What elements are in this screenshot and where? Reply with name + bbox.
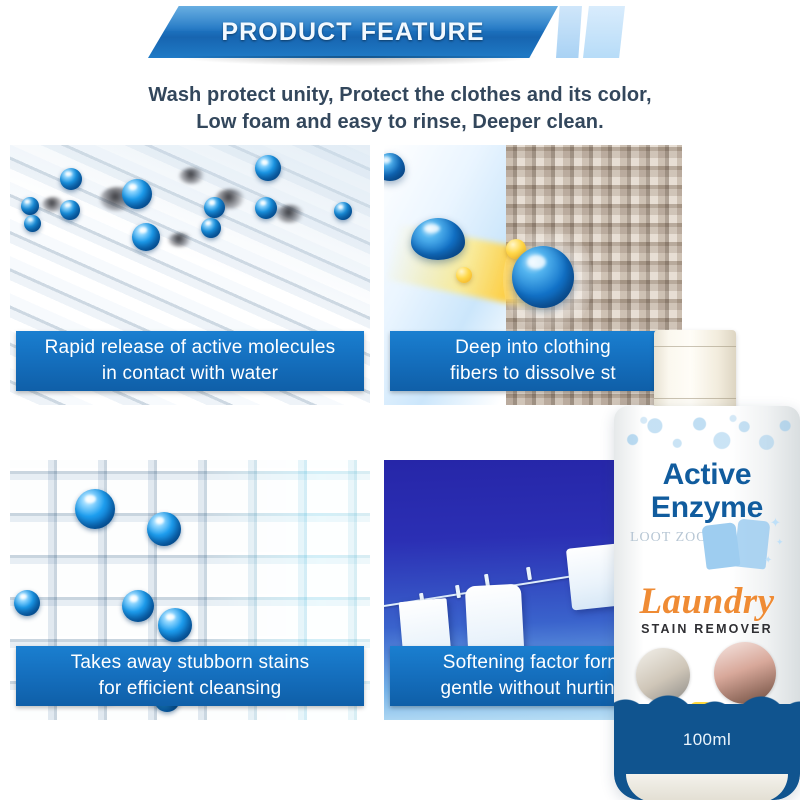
caption-line-2: fibers to dissolve st — [450, 361, 616, 387]
bubble-pattern-band — [614, 412, 800, 458]
panel-caption: Takes away stubborn stains for efficient… — [16, 646, 364, 706]
label-title-line-1: Active — [614, 458, 800, 491]
caption-line-1: Softening factor form — [443, 650, 624, 676]
volume-label: 100ml — [614, 730, 800, 750]
banner-accent-stripe-1 — [556, 6, 582, 58]
product-bottle: Active Enzyme LOOT ZOO ✦ ✦ ✦ Laundry STA… — [614, 330, 800, 800]
caption-line-2: in contact with water — [102, 361, 278, 387]
caption-line-2: gentle without hurting — [440, 676, 625, 702]
header-banner: PRODUCT FEATURE — [0, 6, 800, 62]
feature-panel-rapid-release: Rapid release of active molecules in con… — [10, 145, 370, 405]
page-title: PRODUCT FEATURE — [148, 6, 558, 58]
bottle-base — [626, 774, 788, 800]
feature-panel-grid: Rapid release of active molecules in con… — [10, 145, 682, 785]
product-name-script: Laundry — [614, 582, 800, 622]
brand-name: LOOT ZOO — [630, 530, 707, 546]
product-feature-infographic: PRODUCT FEATURE Wash protect unity, Prot… — [0, 0, 800, 800]
subtitle-line-2: Low foam and easy to rinse, Deeper clean… — [0, 109, 800, 136]
bottle-cap — [654, 330, 736, 412]
caption-line-1: Rapid release of active molecules — [45, 335, 336, 361]
subtitle-block: Wash protect unity, Protect the clothes … — [0, 82, 800, 136]
subtitle-line-1: Wash protect unity, Protect the clothes … — [0, 82, 800, 109]
caption-line-1: Deep into clothing — [455, 335, 611, 361]
banner-drop-shadow — [176, 56, 536, 66]
caption-line-1: Takes away stubborn stains — [71, 650, 310, 676]
caption-line-2: for efficient cleansing — [99, 676, 282, 702]
shirts-illustration: ✦ ✦ ✦ — [702, 514, 786, 576]
bottle-body: Active Enzyme LOOT ZOO ✦ ✦ ✦ Laundry STA… — [614, 406, 800, 800]
banner-accent-stripe-2 — [583, 6, 625, 58]
product-subtitle: STAIN REMOVER — [614, 622, 800, 636]
feature-panel-stubborn-stains: Takes away stubborn stains for efficient… — [10, 460, 370, 720]
panel-caption: Rapid release of active molecules in con… — [16, 331, 364, 391]
